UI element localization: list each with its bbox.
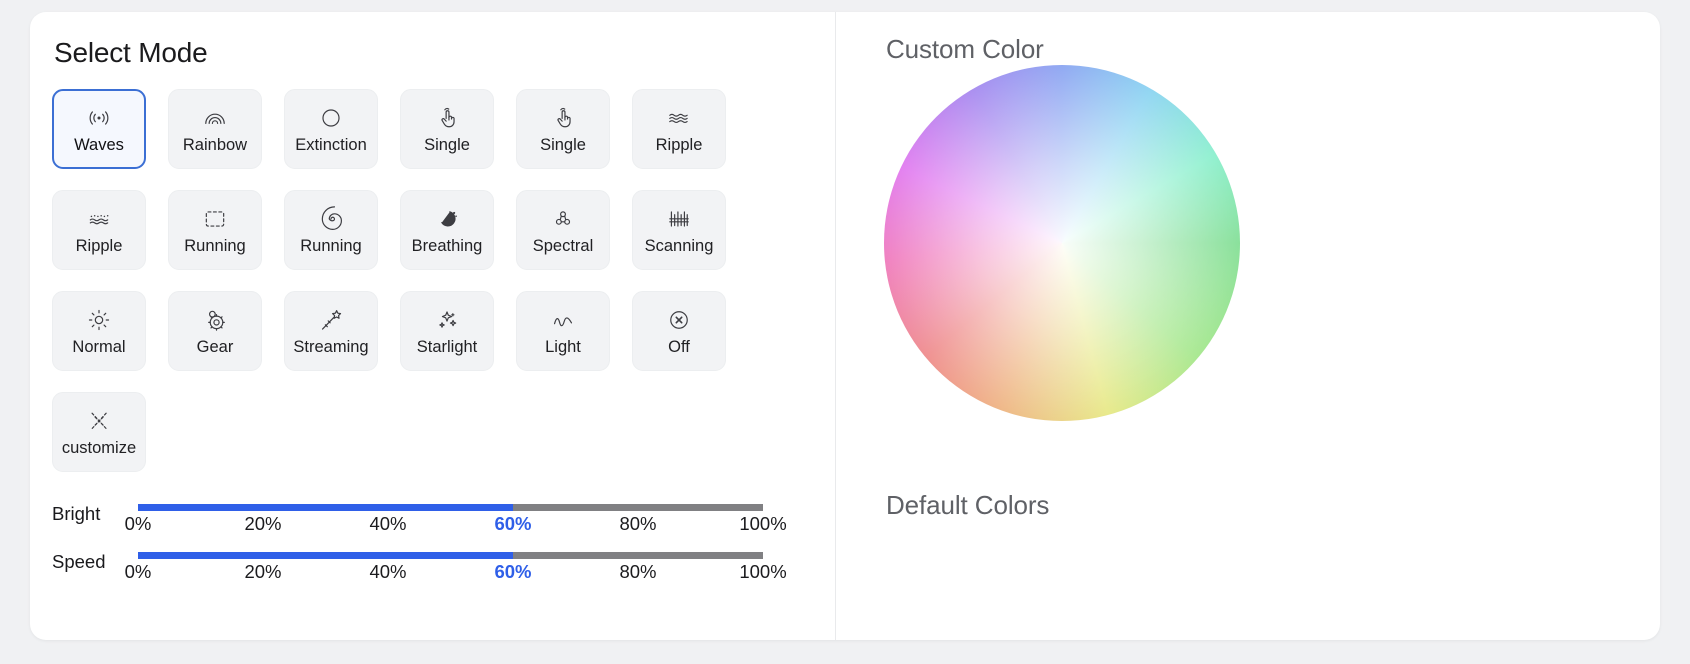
slider-tick-label: 20%: [244, 515, 281, 534]
running-dash-icon: [202, 206, 228, 232]
mode-grid: WavesRainbowExtinctionSingleSingleRipple…: [52, 89, 752, 472]
mode-button-label: Scanning: [645, 238, 714, 255]
slider-body: 0%20%40%60%80%100%: [138, 552, 763, 559]
mode-button-spectral-10[interactable]: Spectral: [516, 190, 610, 270]
slider-fill: [138, 552, 513, 559]
slider-tick-label: 80%: [619, 563, 656, 582]
color-wheel[interactable]: [884, 65, 1240, 421]
mode-button-starlight-15[interactable]: Starlight: [400, 291, 494, 371]
slider-tick-label: 0%: [125, 515, 152, 534]
mode-button-label: Light: [545, 339, 581, 356]
slider-tick-label: 60%: [494, 515, 531, 534]
shooting-star-icon: [318, 307, 344, 333]
slider-tick-label: 0%: [125, 563, 152, 582]
close-circle-icon: [666, 307, 692, 333]
mode-button-single-3[interactable]: Single: [400, 89, 494, 169]
customize-icon: [86, 408, 112, 434]
mode-button-label: Gear: [197, 339, 234, 356]
mode-button-label: Spectral: [533, 238, 594, 255]
wave-line-icon: [550, 307, 576, 333]
slider-tick-label: 40%: [369, 515, 406, 534]
mode-button-label: Breathing: [412, 238, 483, 255]
breathing-icon: [434, 206, 460, 232]
slider-tick-label: 80%: [619, 515, 656, 534]
mode-button-label: Starlight: [417, 339, 478, 356]
slider-tick-label: 20%: [244, 563, 281, 582]
slider-body: 0%20%40%60%80%100%: [138, 504, 763, 511]
mode-button-ripple-6[interactable]: Ripple: [52, 190, 146, 270]
slider-fill: [138, 504, 513, 511]
mode-button-single-4[interactable]: Single: [516, 89, 610, 169]
color-pane: Custom Color #153DDF 21 61 B 223 Default…: [836, 12, 1660, 640]
circle-icon: [318, 105, 344, 131]
slider-track[interactable]: [138, 504, 763, 511]
slider-tick-label: 40%: [369, 563, 406, 582]
waves-icon: [86, 105, 112, 131]
mode-button-label: Normal: [72, 339, 125, 356]
mode-button-rainbow-1[interactable]: Rainbow: [168, 89, 262, 169]
mode-button-ripple-5[interactable]: Ripple: [632, 89, 726, 169]
spiral-icon: [318, 206, 344, 232]
mode-button-label: Streaming: [293, 339, 368, 356]
mode-button-label: Ripple: [76, 238, 123, 255]
mode-button-running-8[interactable]: Running: [284, 190, 378, 270]
slider-row-speed: Speed0%20%40%60%80%100%: [52, 552, 822, 572]
default-colors-title: Default Colors: [886, 490, 1049, 521]
select-mode-pane: Select Mode WavesRainbowExtinctionSingle…: [30, 12, 836, 640]
mode-button-label: Single: [540, 137, 586, 154]
slider-tick-label: 100%: [739, 515, 786, 534]
mode-button-label: Off: [668, 339, 690, 356]
mode-button-label: Rainbow: [183, 137, 247, 154]
mode-button-off-17[interactable]: Off: [632, 291, 726, 371]
ripple-dots-icon: [86, 206, 112, 232]
lighting-control-panel: Select Mode WavesRainbowExtinctionSingle…: [30, 12, 1660, 640]
ripple-icon: [666, 105, 692, 131]
scanning-icon: [666, 206, 692, 232]
mode-button-label: Running: [184, 238, 245, 255]
mode-button-gear-13[interactable]: Gear: [168, 291, 262, 371]
mode-button-label: customize: [62, 440, 136, 457]
mode-button-waves-0[interactable]: Waves: [52, 89, 146, 169]
hand-tap-icon: [550, 105, 576, 131]
slider-tick-label: 60%: [494, 563, 531, 582]
mode-button-light-16[interactable]: Light: [516, 291, 610, 371]
mode-button-extinction-2[interactable]: Extinction: [284, 89, 378, 169]
mode-button-running-7[interactable]: Running: [168, 190, 262, 270]
sun-icon: [86, 307, 112, 333]
mode-button-scanning-11[interactable]: Scanning: [632, 190, 726, 270]
slider-tick-label: 100%: [739, 563, 786, 582]
mode-button-normal-12[interactable]: Normal: [52, 291, 146, 371]
mode-button-customize-18[interactable]: customize: [52, 392, 146, 472]
mode-button-label: Extinction: [295, 137, 367, 154]
hand-tap-icon: [434, 105, 460, 131]
mode-button-streaming-14[interactable]: Streaming: [284, 291, 378, 371]
mode-button-label: Ripple: [656, 137, 703, 154]
sparkle-icon: [434, 307, 460, 333]
mode-button-breathing-9[interactable]: Breathing: [400, 190, 494, 270]
mode-button-label: Waves: [74, 137, 124, 154]
custom-color-title: Custom Color: [886, 34, 1044, 65]
slider-track[interactable]: [138, 552, 763, 559]
gear-icon: [202, 307, 228, 333]
mode-button-label: Running: [300, 238, 361, 255]
mode-button-label: Single: [424, 137, 470, 154]
page-title: Select Mode: [52, 37, 835, 69]
rainbow-icon: [202, 105, 228, 131]
slider-row-bright: Bright0%20%40%60%80%100%: [52, 504, 822, 524]
slider-group: Bright0%20%40%60%80%100%Speed0%20%40%60%…: [52, 504, 822, 599]
spectral-icon: [550, 206, 576, 232]
